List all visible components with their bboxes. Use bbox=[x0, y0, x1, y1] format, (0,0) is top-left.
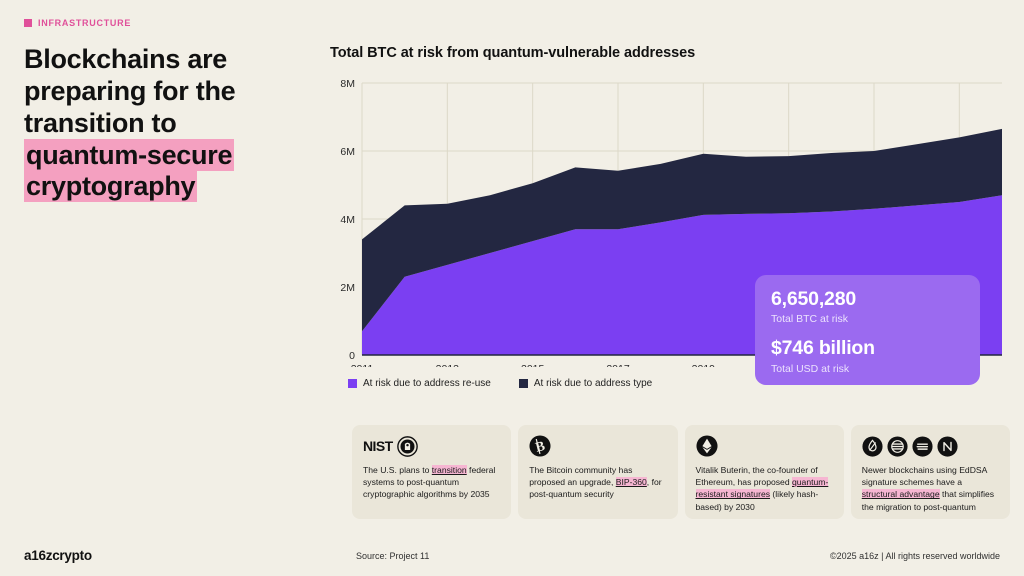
y-tick-label: 8M bbox=[340, 78, 355, 90]
chart-plot-area: 02M4M6M8M 201120132015201720192021202320… bbox=[330, 75, 1002, 367]
category-eyebrow: INFRASTRUCTURE bbox=[24, 18, 314, 28]
headline-highlight-2: cryptography bbox=[24, 170, 197, 202]
callout-btc-label: Total BTC at risk bbox=[771, 313, 964, 325]
info-card-nist: NIST The U.S. plans to transition federa… bbox=[352, 425, 511, 519]
card-body-text: The Bitcoin community has proposed an up… bbox=[529, 464, 666, 501]
card-icon-group bbox=[862, 434, 999, 458]
brand-logo: a16zcrypto bbox=[24, 548, 92, 563]
card-link[interactable]: transition bbox=[432, 465, 467, 475]
card-body-text: Newer blockchains using EdDSA signature … bbox=[862, 464, 999, 513]
info-card-ethereum: Vitalik Buterin, the co-founder of Ether… bbox=[685, 425, 844, 519]
nist-wordmark-icon: NIST bbox=[363, 438, 393, 454]
info-card-list: NIST The U.S. plans to transition federa… bbox=[352, 425, 1010, 519]
y-tick-label: 0 bbox=[349, 350, 355, 362]
bitcoin-icon: B bbox=[529, 435, 551, 457]
card-icon-group: B bbox=[529, 434, 666, 458]
info-card-bitcoin: B The Bitcoin community has proposed an … bbox=[518, 425, 677, 519]
y-tick-label: 6M bbox=[340, 146, 355, 158]
headline-line-1: Blockchains are bbox=[24, 44, 227, 74]
aptos-icon bbox=[912, 436, 933, 457]
legend-item[interactable]: At risk due to address re-use bbox=[348, 378, 491, 389]
callout-btc-value: 6,650,280 bbox=[771, 289, 964, 310]
copyright-note: ©2025 a16z | All rights reserved worldwi… bbox=[830, 551, 1000, 561]
callout-usd-label: Total USD at risk bbox=[771, 363, 964, 375]
card-text-before: The U.S. plans to bbox=[363, 465, 432, 475]
left-panel: INFRASTRUCTURE Blockchains are preparing… bbox=[24, 18, 314, 203]
card-body-text: Vitalik Buterin, the co-founder of Ether… bbox=[696, 464, 833, 513]
card-link[interactable]: structural advantage bbox=[862, 489, 940, 499]
headline-line-3: transition to bbox=[24, 108, 176, 138]
callout-box: 6,650,280 Total BTC at risk $746 billion… bbox=[755, 275, 980, 385]
eyebrow-square-icon bbox=[24, 19, 32, 27]
y-tick-label: 2M bbox=[340, 282, 355, 294]
legend-swatch-reuse bbox=[348, 379, 357, 388]
headline-highlight-1: quantum-secure bbox=[24, 139, 234, 171]
chart-title: Total BTC at risk from quantum-vulnerabl… bbox=[330, 45, 1002, 61]
sui-icon bbox=[862, 436, 883, 457]
x-tick-label: 2011 bbox=[351, 363, 374, 367]
info-card-newer-chains: Newer blockchains using EdDSA signature … bbox=[851, 425, 1010, 519]
legend-label: At risk due to address type bbox=[534, 378, 652, 389]
sei-icon bbox=[887, 436, 908, 457]
y-axis-tick-labels: 02M4M6M8M bbox=[340, 78, 355, 362]
legend-item[interactable]: At risk due to address type bbox=[519, 378, 652, 389]
callout-usd-value: $746 billion bbox=[771, 338, 964, 359]
legend-label: At risk due to address re-use bbox=[363, 378, 491, 389]
eyebrow-label: INFRASTRUCTURE bbox=[38, 18, 131, 28]
x-tick-label: 2017 bbox=[606, 363, 630, 367]
card-icon-group: NIST bbox=[363, 434, 500, 458]
x-tick-label: 2019 bbox=[692, 363, 716, 367]
near-icon bbox=[937, 436, 958, 457]
source-note: Source: Project 11 bbox=[356, 551, 429, 561]
x-tick-label: 2013 bbox=[436, 363, 460, 367]
page-title: Blockchains are preparing for the transi… bbox=[24, 44, 314, 203]
card-text-before: Newer blockchains using EdDSA signature … bbox=[862, 465, 987, 487]
chart-panel: Total BTC at risk from quantum-vulnerabl… bbox=[330, 45, 1002, 389]
card-body-text: The U.S. plans to transition federal sys… bbox=[363, 464, 500, 501]
card-link[interactable]: BIP-360 bbox=[616, 477, 647, 487]
legend-swatch-type bbox=[519, 379, 528, 388]
ethereum-icon bbox=[696, 435, 718, 457]
x-tick-label: 2015 bbox=[521, 363, 545, 367]
nist-seal-icon bbox=[397, 436, 418, 457]
slide-root: INFRASTRUCTURE Blockchains are preparing… bbox=[0, 0, 1024, 576]
card-icon-group bbox=[696, 434, 833, 458]
headline-line-2: preparing for the bbox=[24, 76, 235, 106]
y-tick-label: 4M bbox=[340, 214, 355, 226]
